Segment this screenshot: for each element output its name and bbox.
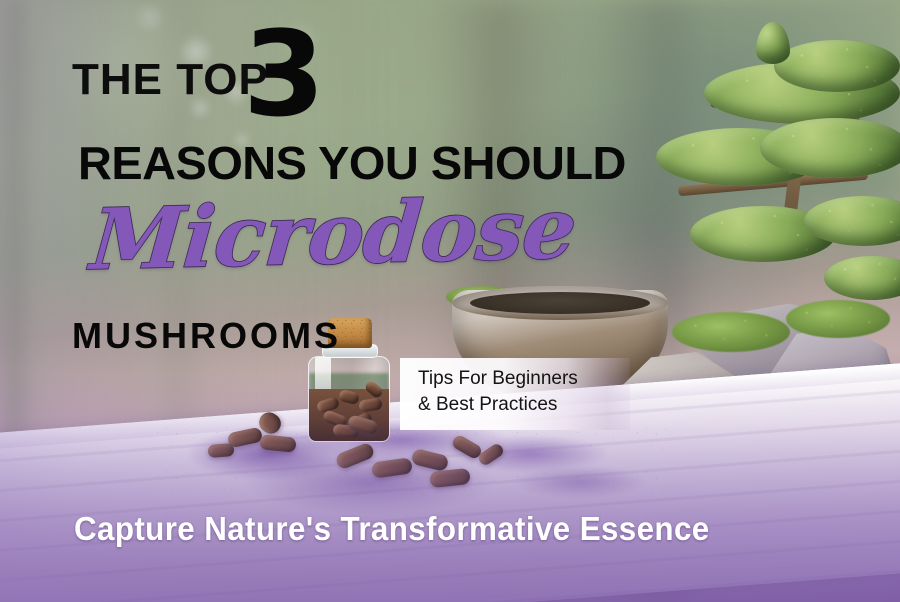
bottom-tagline: Capture Nature's Transformative Essence — [74, 512, 710, 545]
headline-mushrooms: MUSHROOMS — [72, 318, 341, 354]
headline-script-microdose: Microdose — [88, 186, 579, 282]
poster-canvas: THE TOP 3 REASONS YOU SHOULD Microdose M… — [0, 0, 900, 602]
tips-callout-text: Tips For Beginners & Best Practices — [418, 366, 648, 418]
tips-line-2: & Best Practices — [418, 392, 648, 418]
tips-line-1: Tips For Beginners — [418, 366, 648, 392]
headline-the-top: THE TOP — [72, 58, 269, 102]
headline-number-three: 3 — [243, 15, 325, 133]
